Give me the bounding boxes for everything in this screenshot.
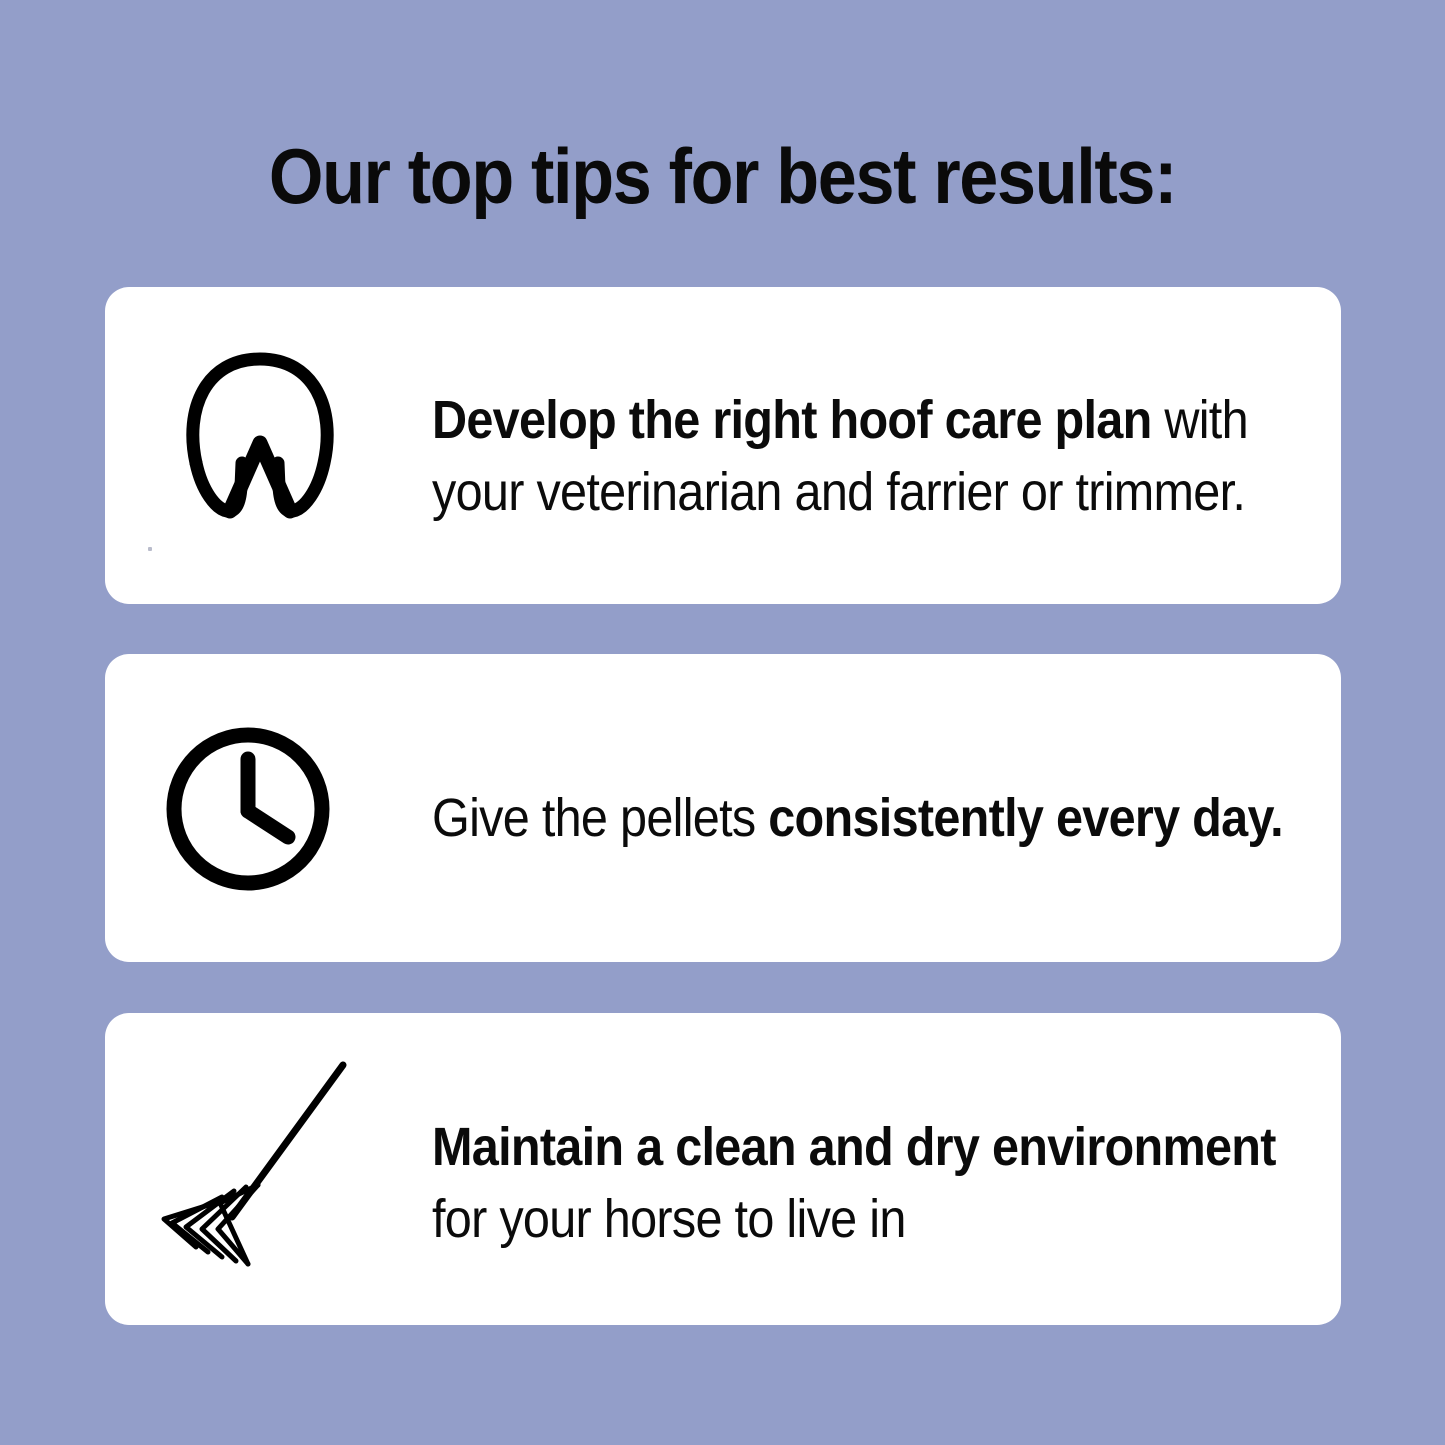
tips-infographic: Our top tips for best results: Develop t… <box>0 0 1445 1445</box>
tip-text-consistency: Give the pellets consistently every day. <box>432 782 1287 854</box>
tip-text-bold: Maintain a clean and dry environment <box>432 1117 1276 1177</box>
hoof-icon <box>160 335 360 540</box>
tip-text-regular: Give the pellets <box>432 788 768 848</box>
tip-text-hoof-care: Develop the right hoof care plan with yo… <box>432 384 1287 528</box>
tip-text-bold: consistently every day. <box>768 788 1283 848</box>
tip-text-clean-environment: Maintain a clean and dry environment for… <box>432 1111 1287 1255</box>
page-title: Our top tips for best results: <box>72 130 1373 222</box>
tip-card-clean-environment: Maintain a clean and dry environment for… <box>105 1013 1341 1325</box>
pitchfork-icon <box>160 1051 370 1276</box>
image-speck-artifact <box>148 547 152 551</box>
tip-card-consistency: Give the pellets consistently every day. <box>105 654 1341 962</box>
clock-icon <box>160 721 336 902</box>
tip-card-hoof-care: Develop the right hoof care plan with yo… <box>105 287 1341 604</box>
tip-text-bold: Develop the right hoof care plan <box>432 390 1152 450</box>
tip-text-regular: for your horse to live in <box>432 1189 906 1249</box>
